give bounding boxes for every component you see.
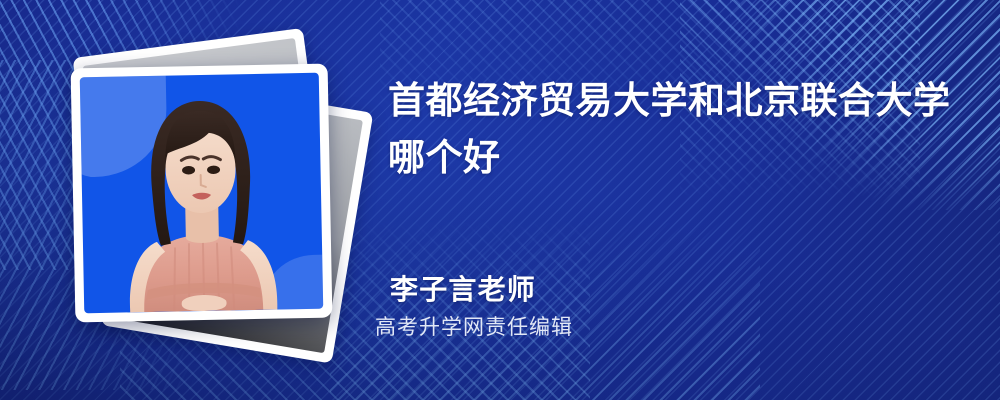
author-photo-card bbox=[71, 64, 333, 323]
banner-headline: 首都经济贸易大学和北京联合大学哪个好 bbox=[388, 72, 968, 186]
author-byline: 李子言老师 高考升学网责任编辑 bbox=[390, 272, 810, 342]
author-photo-stack bbox=[60, 48, 350, 348]
author-role: 高考升学网责任编辑 bbox=[375, 314, 810, 342]
author-portrait-illustration bbox=[80, 73, 323, 314]
author-name: 李子言老师 bbox=[390, 272, 810, 308]
article-author-banner: 首都经济贸易大学和北京联合大学哪个好 李子言老师 高考升学网责任编辑 bbox=[0, 0, 1000, 400]
author-photo bbox=[80, 73, 323, 314]
